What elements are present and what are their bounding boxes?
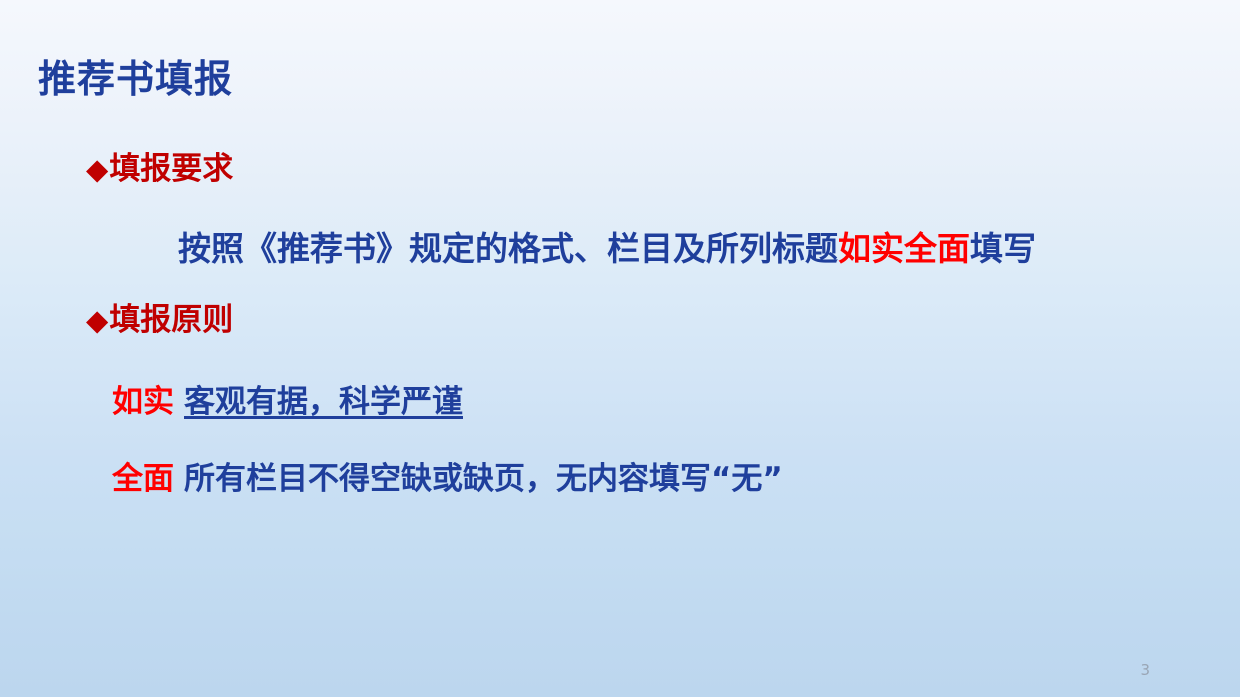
- principle-label-complete: 全面: [112, 461, 174, 497]
- slide-canvas: 推荐书填报 ◆填报要求 按照《推荐书》规定的格式、栏目及所列标题如实全面填写 ◆…: [0, 0, 1240, 697]
- diamond-bullet-icon: ◆: [86, 152, 108, 186]
- section-heading-principles: ◆填报原则: [86, 303, 233, 339]
- principle-item-complete: 全面所有栏目不得空缺或缺页，无内容填写“无”: [112, 461, 783, 498]
- section-heading-requirements-label: 填报要求: [109, 151, 233, 187]
- principle-text-truthful: 客观有据，科学严谨: [184, 384, 463, 420]
- page-number: 3: [1140, 661, 1150, 679]
- principle-item-truthful: 如实客观有据，科学严谨: [112, 384, 463, 421]
- section-heading-requirements: ◆填报要求: [86, 152, 233, 188]
- requirement-statement-part1: 按照《推荐书》规定的格式、栏目及所列标题: [178, 229, 838, 268]
- section-heading-principles-label: 填报原则: [109, 302, 233, 338]
- diamond-bullet-icon: ◆: [86, 303, 108, 337]
- requirement-statement-emphasis: 如实全面: [838, 229, 970, 268]
- principle-label-truthful: 如实: [112, 384, 174, 420]
- page-title: 推荐书填报: [38, 58, 233, 102]
- requirement-statement: 按照《推荐书》规定的格式、栏目及所列标题如实全面填写: [178, 230, 1036, 269]
- principle-text-complete: 所有栏目不得空缺或缺页，无内容填写“无”: [184, 461, 783, 497]
- requirement-statement-part3: 填写: [970, 229, 1036, 268]
